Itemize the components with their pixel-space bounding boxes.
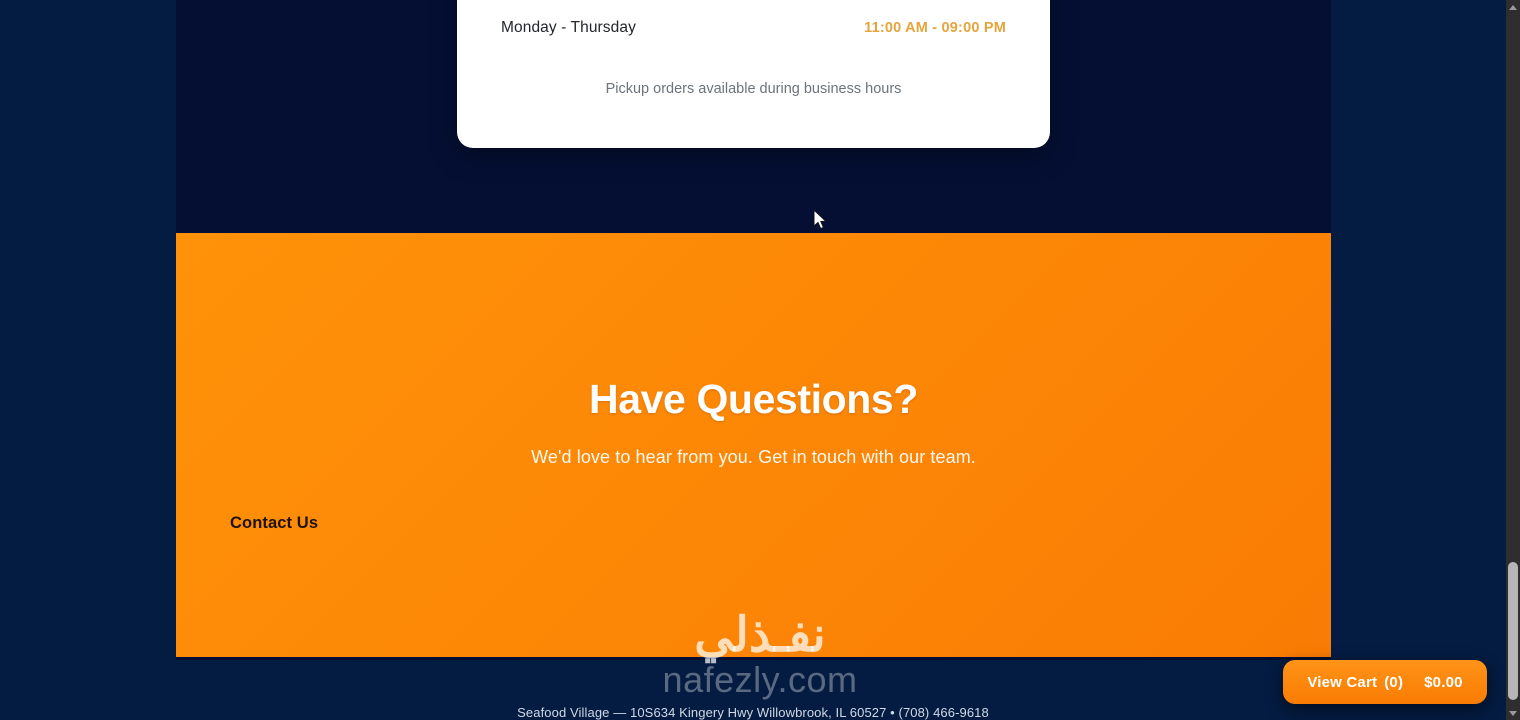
cta-heading: Have Questions? [176,376,1331,423]
contact-cta-section: Have Questions? We'd love to hear from y… [176,233,1331,657]
view-cart-button[interactable]: View Cart (0) $0.00 [1283,660,1487,704]
hours-row: Monday - Thursday 11:00 AM - 09:00 PM [501,19,1006,37]
view-cart-count: (0) [1384,674,1403,691]
hours-time-value: 11:00 AM - 09:00 PM [864,20,1006,36]
business-hours-card: Monday - Thursday 11:00 AM - 09:00 PM Pi… [457,0,1050,148]
vertical-scrollbar[interactable] [1506,0,1520,720]
browser-viewport: Monday - Thursday 11:00 AM - 09:00 PM Pi… [0,0,1520,720]
view-cart-total: $0.00 [1424,674,1463,691]
footer-address-text: Seafood Village — 10S634 Kingery Hwy Wil… [0,705,1506,720]
scroll-down-arrow-icon[interactable] [1506,706,1520,720]
cta-subtitle: We'd love to hear from you. Get in touch… [176,447,1331,468]
scrollbar-thumb[interactable] [1508,562,1518,700]
site-footer: Seafood Village — 10S634 Kingery Hwy Wil… [0,660,1506,720]
hours-days-label: Monday - Thursday [501,19,636,37]
scroll-up-arrow-icon[interactable] [1506,0,1520,14]
view-cart-label: View Cart [1307,674,1377,691]
contact-us-button[interactable]: Contact Us [230,514,318,533]
pickup-note: Pickup orders available during business … [457,81,1050,97]
